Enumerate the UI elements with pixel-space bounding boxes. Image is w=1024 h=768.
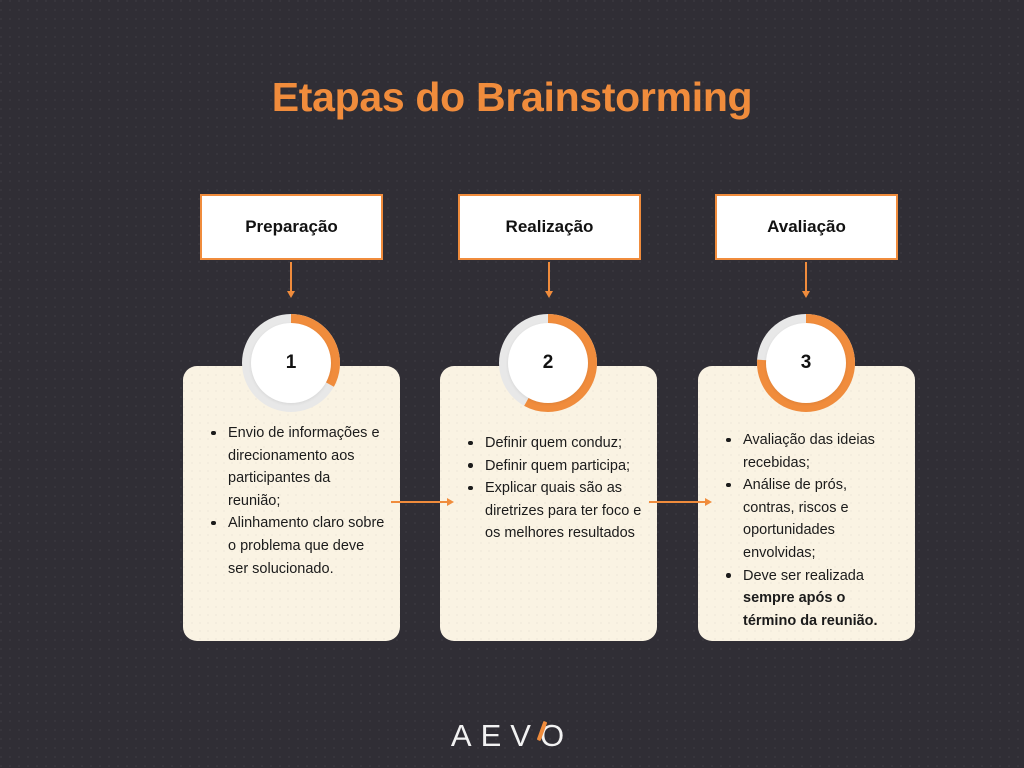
stage-header-label: Preparação — [245, 217, 338, 237]
step-bullet-list: Definir quem conduz; Definir quem partic… — [462, 432, 643, 545]
bullet-text: Avaliação das ideias recebidas; — [743, 432, 875, 471]
list-item: Deve ser realizada sempre após o término… — [720, 565, 901, 633]
step-badge-3: 3 — [756, 313, 856, 413]
stage-header-3[interactable]: Avaliação — [715, 194, 898, 260]
step-bullet-list: Avaliação das ideias recebidas; Análise … — [720, 429, 901, 632]
bullet-text: Definir quem conduz; — [485, 435, 622, 451]
step-number: 3 — [766, 323, 846, 403]
list-item: Análise de prós, contras, riscos e oport… — [720, 474, 901, 564]
arrow-down-icon — [290, 262, 292, 292]
list-item: Definir quem participa; — [462, 455, 643, 478]
arrow-right-icon — [391, 501, 448, 503]
stage-header-label: Avaliação — [767, 217, 846, 237]
brand-logo-text: AEVO — [451, 718, 573, 753]
step-number: 1 — [251, 323, 331, 403]
bullet-text: Análise de prós, contras, riscos e oport… — [743, 477, 849, 561]
page-title: Etapas do Brainstorming — [0, 74, 1024, 121]
step-bullet-list: Envio de informações e direcionamento ao… — [205, 422, 386, 580]
arrow-down-icon — [805, 262, 807, 292]
bullet-text-emphasis: sempre após o término da reunião. — [743, 590, 878, 629]
list-item: Explicar quais são as diretrizes para te… — [462, 477, 643, 545]
brand-logo: AEVO — [0, 718, 1024, 754]
list-item: Envio de informações e direcionamento ao… — [205, 422, 386, 512]
bullet-text: Definir quem participa; — [485, 458, 630, 474]
bullet-text: Explicar quais são as diretrizes para te… — [485, 480, 641, 541]
bullet-text: Envio de informações e direcionamento ao… — [228, 425, 380, 509]
stage-header-1[interactable]: Preparação — [200, 194, 383, 260]
list-item: Alinhamento claro sobre o problema que d… — [205, 512, 386, 580]
stage-header-2[interactable]: Realização — [458, 194, 641, 260]
arrow-down-icon — [548, 262, 550, 292]
list-item: Avaliação das ideias recebidas; — [720, 429, 901, 474]
step-badge-1: 1 — [241, 313, 341, 413]
step-badge-2: 2 — [498, 313, 598, 413]
stage-header-label: Realização — [506, 217, 594, 237]
step-number: 2 — [508, 323, 588, 403]
bullet-text: Deve ser realizada — [743, 568, 864, 584]
bullet-text: Alinhamento claro sobre o problema que d… — [228, 515, 384, 576]
arrow-right-icon — [649, 501, 706, 503]
list-item: Definir quem conduz; — [462, 432, 643, 455]
